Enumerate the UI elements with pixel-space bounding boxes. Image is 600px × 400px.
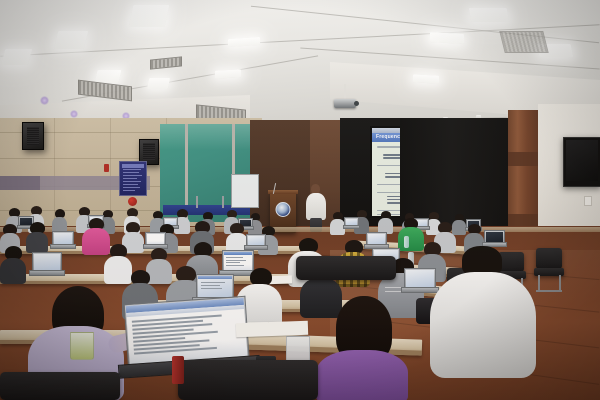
attendee-foreground-white-shirt <box>430 246 536 376</box>
notice-board-header <box>122 164 144 168</box>
attendee <box>330 212 345 234</box>
laptop-lid <box>124 296 250 365</box>
fire-bell-icon <box>128 197 137 206</box>
wall-outlet <box>584 196 592 206</box>
chair-foreground[interactable] <box>178 360 318 400</box>
university-seal-emblem <box>276 202 291 217</box>
projector-mount <box>344 84 346 100</box>
fire-alarm-icon <box>104 164 109 172</box>
ceiling-light-panel <box>215 69 241 78</box>
wall-accent-band-dark <box>0 176 40 190</box>
attendee <box>378 211 393 233</box>
laptop[interactable] <box>32 252 60 274</box>
water-bottle <box>404 236 409 248</box>
ceiling-light-panel <box>94 70 121 83</box>
thermos-bottle <box>172 356 184 384</box>
laptop[interactable] <box>344 217 357 227</box>
door-handle[interactable] <box>222 196 224 208</box>
wall-mounted-tv <box>563 137 600 187</box>
downlight <box>70 110 78 118</box>
air-vent <box>499 31 548 53</box>
attendee <box>52 209 67 233</box>
ceiling-light-panel <box>430 32 464 44</box>
laptop-screen <box>126 298 248 364</box>
tea-cup <box>70 332 94 360</box>
attendee <box>26 222 48 252</box>
chair-foreground[interactable] <box>296 256 396 326</box>
ceiling-light-panel <box>413 74 439 83</box>
ceiling-light-panel <box>54 31 88 49</box>
door-handle[interactable] <box>196 196 198 208</box>
chair-foreground[interactable] <box>0 372 120 400</box>
tv-screen <box>566 140 598 181</box>
laptop[interactable] <box>52 231 72 247</box>
laptop[interactable] <box>484 230 503 245</box>
laptop[interactable] <box>246 234 264 248</box>
presenter <box>305 184 327 230</box>
air-vent <box>78 80 132 102</box>
notice-board <box>119 161 147 196</box>
ceiling-light-panel <box>129 5 170 27</box>
attendee <box>0 246 26 282</box>
air-vent <box>150 56 182 69</box>
ceiling-projector <box>334 99 356 108</box>
whiteboard <box>231 174 259 208</box>
wall-speaker-left <box>22 122 44 150</box>
ceiling-light-panel <box>469 8 509 22</box>
presenter-torso <box>306 193 326 220</box>
empty-chair[interactable] <box>534 248 564 292</box>
ceiling-light-panel <box>228 37 260 47</box>
ceiling-light-panel <box>1 49 33 65</box>
lecture-hall-photo: Frequency Table <box>0 0 600 400</box>
laptop[interactable] <box>145 232 164 247</box>
ceiling-light-panel <box>147 78 170 89</box>
downlight <box>40 96 49 105</box>
